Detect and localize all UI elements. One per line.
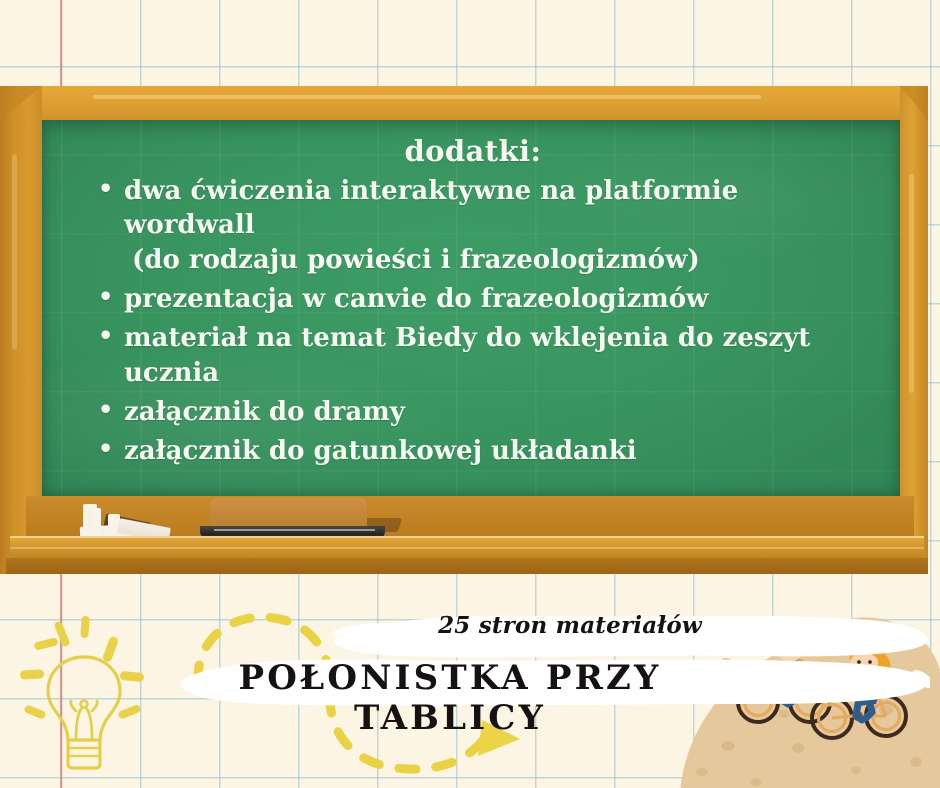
list-item: prezentacja w canvie do frazeologizmów: [98, 282, 874, 316]
chalkboard-bullet-list: dwa ćwiczenia interaktywne na platformie…: [72, 174, 874, 469]
brand-name-label: POŁONISTKA PRZY TABLICY: [180, 658, 720, 738]
list-item: załącznik do dramy: [98, 395, 874, 429]
tray-bottom-edge: [6, 558, 928, 574]
list-item-text: załącznik do dramy: [124, 397, 405, 427]
chalkboard-title: dodatki:: [72, 134, 874, 168]
pages-count-label: 25 stron materiałów: [430, 612, 710, 639]
list-item-text: materiał na temat Biedy do wklejenia do …: [124, 323, 810, 387]
poster-canvas: dodatki: dwa ćwiczenia interaktywne na p…: [0, 0, 940, 788]
chalk-tray: [0, 496, 928, 574]
frame-top-rail: [0, 86, 928, 120]
list-item: załącznik do gatunkowej układanki: [98, 434, 874, 468]
list-item-text: dwa ćwiczenia interaktywne na platformie…: [124, 176, 738, 240]
list-item: dwa ćwiczenia interaktywne na platformie…: [98, 174, 874, 277]
chalkboard: dodatki: dwa ćwiczenia interaktywne na p…: [0, 86, 928, 574]
lightbulb-icon: [18, 612, 150, 776]
chalkboard-content: dodatki: dwa ćwiczenia interaktywne na p…: [42, 120, 900, 496]
frame-corner-bevel-left: [0, 86, 42, 120]
list-item-subtext: (do rodzaju powieści i frazeologizmów): [124, 243, 874, 277]
list-item: materiał na temat Biedy do wklejenia do …: [98, 321, 874, 390]
list-item-text: załącznik do gatunkowej układanki: [124, 436, 637, 466]
list-item-text: prezentacja w canvie do frazeologizmów: [124, 284, 708, 314]
frame-corner-bevel-right: [900, 86, 928, 120]
